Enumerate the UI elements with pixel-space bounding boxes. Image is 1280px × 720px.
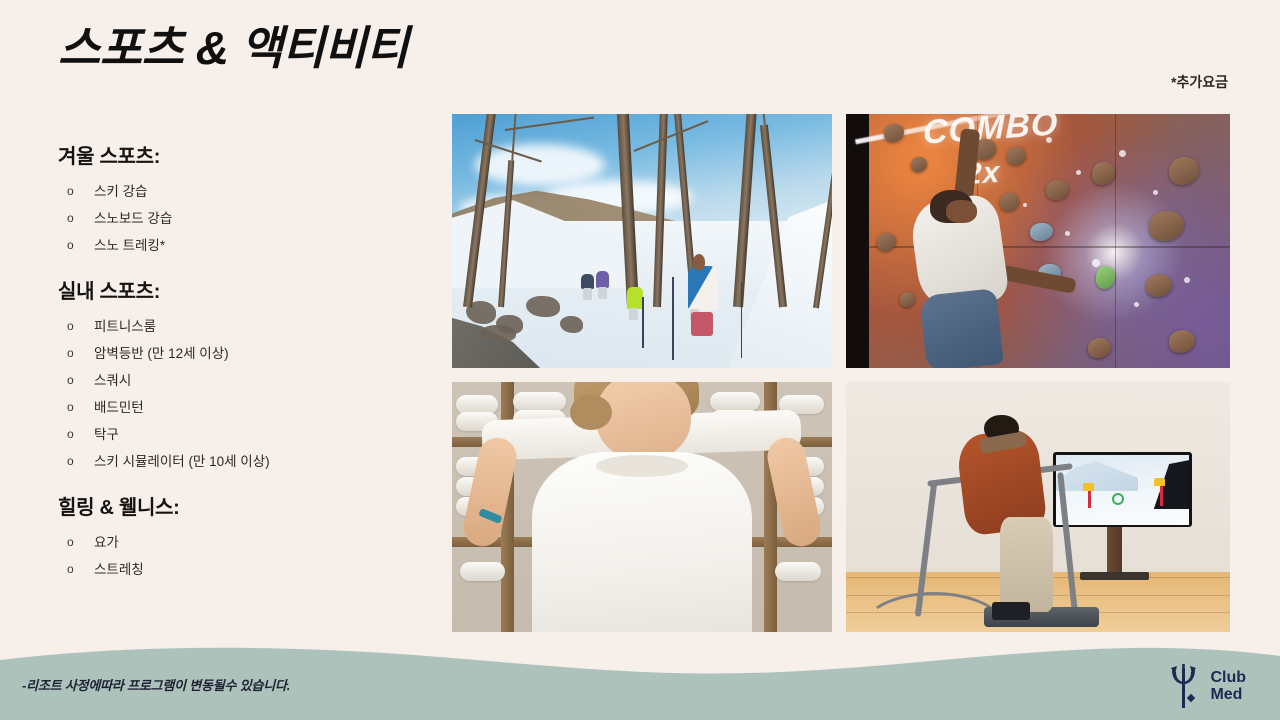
category-heading: 실내 스포츠: bbox=[58, 275, 438, 304]
list-item[interactable]: o 스노 트레킹* bbox=[58, 232, 438, 259]
slide-root: 스포츠 & 액티비티 *추가요금 겨울 스포츠: o 스키 강습 o 스노보드 … bbox=[0, 0, 1280, 720]
list-item[interactable]: o 스쿼시 bbox=[58, 367, 438, 394]
light-speck bbox=[1184, 277, 1190, 283]
logo-line-med: Med bbox=[1210, 686, 1246, 703]
list-item[interactable]: o 스노보드 강습 bbox=[58, 205, 438, 232]
skier-boot bbox=[992, 602, 1030, 620]
game-flag bbox=[1154, 478, 1165, 486]
bullet-icon: o bbox=[58, 313, 88, 340]
list-item[interactable]: o 스키 시뮬레이터 (만 10세 이상) bbox=[58, 448, 438, 475]
footer: -리조트 사정에따라 프로그램이 변동될수 있습니다. Club Med bbox=[0, 634, 1280, 720]
trekking-pole bbox=[642, 297, 644, 348]
category-healing-wellness: 힐링 & 웰니스: o 요가 o 스트레칭 bbox=[58, 491, 438, 583]
trident-icon bbox=[1163, 662, 1205, 710]
bullet-icon: o bbox=[58, 529, 88, 556]
tv-stand-base bbox=[1080, 572, 1149, 580]
category-item-list: o 스키 강습 o 스노보드 강습 o 스노 트레킹* bbox=[58, 178, 438, 259]
category-indoor-sports: 실내 스포츠: o 피트니스룸 o 암벽등반 (만 12세 이상) o 스쿼시 … bbox=[58, 275, 438, 475]
bullet-icon: o bbox=[58, 340, 88, 367]
list-item-label: 스트레칭 bbox=[88, 556, 144, 583]
tv-screen-content bbox=[1056, 455, 1189, 525]
bullet-icon: o bbox=[58, 421, 88, 448]
category-heading: 겨울 스포츠: bbox=[58, 140, 438, 169]
list-item-label: 스노보드 강습 bbox=[88, 205, 172, 232]
light-speck bbox=[1065, 231, 1070, 236]
list-item-label: 스노 트레킹* bbox=[88, 232, 165, 259]
wall-shadow-edge bbox=[846, 114, 869, 368]
category-item-list: o 요가 o 스트레칭 bbox=[58, 529, 438, 583]
rock-shape bbox=[480, 325, 517, 342]
tv-stand-column bbox=[1107, 527, 1122, 572]
rolled-towel bbox=[775, 562, 821, 581]
game-flag bbox=[1083, 483, 1094, 491]
list-item-label: 배드민턴 bbox=[88, 394, 144, 421]
bullet-icon: o bbox=[58, 367, 88, 394]
photo-ski-simulator bbox=[846, 382, 1230, 632]
woman-face bbox=[596, 382, 691, 460]
hiker-hair bbox=[693, 254, 705, 270]
rock-shape bbox=[560, 316, 583, 333]
list-item-label: 스쿼시 bbox=[88, 367, 131, 394]
list-item[interactable]: o 스키 강습 bbox=[58, 178, 438, 205]
hiker-pants bbox=[691, 312, 713, 336]
photo-wellness-towel bbox=[452, 382, 832, 632]
light-speck bbox=[1134, 302, 1139, 307]
tv-display bbox=[1053, 452, 1191, 527]
trekking-pole bbox=[741, 282, 743, 358]
game-dark-terrain bbox=[1144, 460, 1189, 509]
category-item-list: o 피트니스룸 o 암벽등반 (만 12세 이상) o 스쿼시 o 배드민턴 o bbox=[58, 313, 438, 475]
hiker-figure bbox=[627, 287, 643, 309]
hiker-figure bbox=[596, 271, 609, 288]
list-item[interactable]: o 암벽등반 (만 12세 이상) bbox=[58, 340, 438, 367]
photo-indoor-climbing: COMBO 2x bbox=[846, 114, 1230, 368]
bullet-icon: o bbox=[58, 178, 88, 205]
hiker-figure bbox=[581, 274, 594, 289]
hiker-figure-foreground bbox=[688, 266, 718, 310]
game-target-ring bbox=[1112, 493, 1124, 505]
list-item[interactable]: o 배드민턴 bbox=[58, 394, 438, 421]
logo-wordmark: Club Med bbox=[1210, 669, 1246, 704]
photo-grid: COMBO 2x bbox=[452, 114, 1230, 638]
bullet-icon: o bbox=[58, 205, 88, 232]
bullet-icon: o bbox=[58, 556, 88, 583]
skier-pants bbox=[1000, 517, 1054, 612]
rolled-towel bbox=[513, 392, 566, 411]
rolled-towel bbox=[710, 392, 759, 411]
climber-jeans bbox=[919, 288, 1003, 368]
white-tshirt bbox=[532, 452, 752, 632]
list-item-label: 피트니스룸 bbox=[88, 313, 156, 340]
rock-shape bbox=[526, 296, 559, 317]
light-speck bbox=[1046, 137, 1052, 143]
activity-categories: 겨울 스포츠: o 스키 강습 o 스노보드 강습 o 스노 트레킹* 실내 스… bbox=[58, 140, 438, 599]
club-med-logo: Club Med bbox=[1163, 662, 1246, 710]
list-item[interactable]: o 스트레칭 bbox=[58, 556, 438, 583]
category-winter-sports: 겨울 스포츠: o 스키 강습 o 스노보드 강습 o 스노 트레킹* bbox=[58, 140, 438, 259]
extra-fee-note: *추가요금 bbox=[1171, 72, 1228, 92]
woman-hair-bun bbox=[570, 395, 612, 430]
photo-snow-trekking bbox=[452, 114, 832, 368]
light-speck bbox=[1023, 203, 1027, 207]
trekking-pole bbox=[672, 277, 674, 361]
list-item-label: 암벽등반 (만 12세 이상) bbox=[88, 340, 229, 367]
rolled-towel bbox=[460, 562, 506, 581]
light-speck bbox=[1119, 150, 1126, 157]
bullet-icon: o bbox=[58, 232, 88, 259]
climbing-hold bbox=[1000, 193, 1019, 211]
list-item[interactable]: o 피트니스룸 bbox=[58, 313, 438, 340]
climber-face bbox=[946, 200, 977, 223]
footer-disclaimer: -리조트 사정에따라 프로그램이 변동될수 있습니다. bbox=[22, 675, 290, 694]
light-speck bbox=[1092, 259, 1100, 267]
bullet-icon: o bbox=[58, 394, 88, 421]
list-item-label: 탁구 bbox=[88, 421, 119, 448]
rolled-towel bbox=[456, 395, 498, 414]
list-item-label: 요가 bbox=[88, 529, 119, 556]
wall-seam bbox=[1115, 114, 1117, 368]
category-heading: 힐링 & 웰니스: bbox=[58, 491, 438, 520]
shirt-neckline bbox=[596, 455, 687, 478]
list-item[interactable]: o 요가 bbox=[58, 529, 438, 556]
logo-line-club: Club bbox=[1210, 669, 1246, 686]
page-title: 스포츠 & 액티비티 bbox=[58, 22, 408, 75]
list-item[interactable]: o 탁구 bbox=[58, 421, 438, 448]
bullet-icon: o bbox=[58, 448, 88, 475]
list-item-label: 스키 시뮬레이터 (만 10세 이상) bbox=[88, 448, 270, 475]
list-item-label: 스키 강습 bbox=[88, 178, 147, 205]
